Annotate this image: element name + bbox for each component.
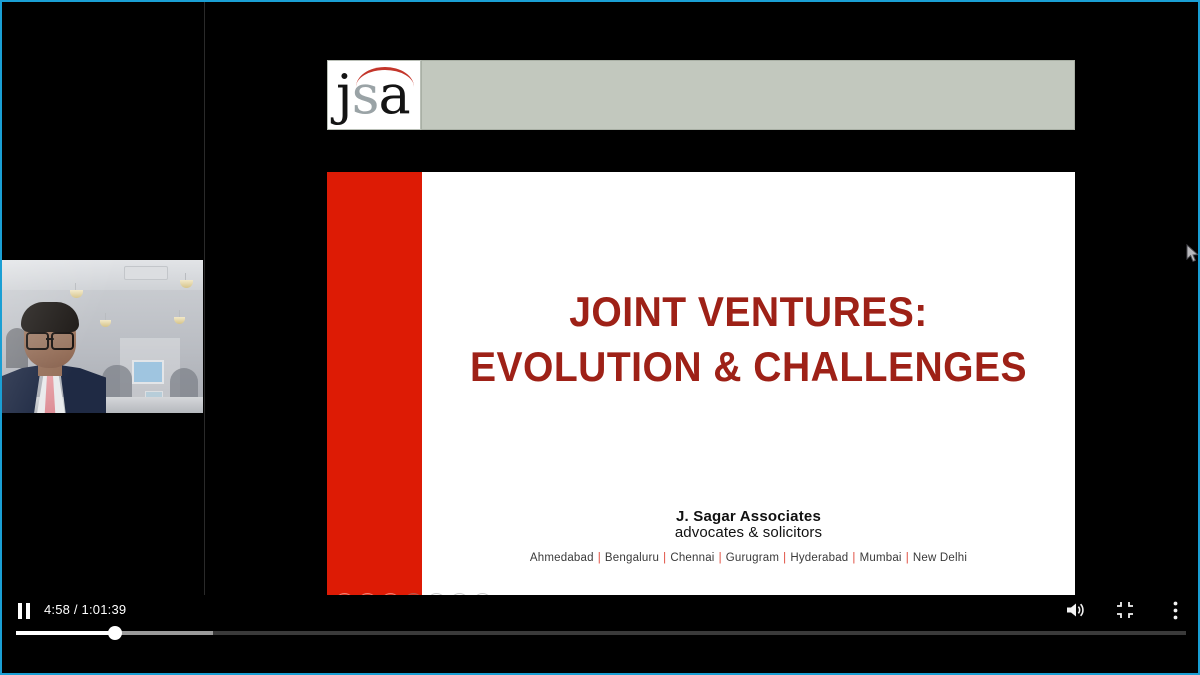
office-city: Gurugram xyxy=(726,552,779,564)
office-city: Mumbai xyxy=(860,552,902,564)
slide-title: JOINT VENTURES: EVOLUTION & CHALLENGES xyxy=(445,284,1052,394)
player-right-controls xyxy=(1064,599,1186,621)
video-player: jsa JOINT VENTURES: EVOLUTION & CHALLENG… xyxy=(0,0,1200,675)
slide-title-line-2: EVOLUTION & CHALLENGES xyxy=(445,339,1052,394)
video-controls: 4:58 / 1:01:39 xyxy=(2,595,1198,673)
firm-block: J. Sagar Associates advocates & solicito… xyxy=(422,508,1075,541)
exit-fullscreen-icon[interactable] xyxy=(1114,599,1136,621)
slide-body[interactable]: JOINT VENTURES: EVOLUTION & CHALLENGES J… xyxy=(327,172,1075,620)
city-separator: | xyxy=(902,552,913,564)
slide-title-line-1: JOINT VENTURES: xyxy=(445,284,1052,339)
volume-icon[interactable] xyxy=(1064,599,1086,621)
pause-button[interactable] xyxy=(16,603,32,619)
firm-name: J. Sagar Associates xyxy=(422,508,1075,525)
glass-reflection xyxy=(2,260,203,413)
office-cities: Ahmedabad|Bengaluru|Chennai|Gurugram|Hyd… xyxy=(422,552,1075,564)
city-separator: | xyxy=(779,552,790,564)
jsa-logo: jsa xyxy=(327,60,421,130)
city-separator: | xyxy=(594,552,605,564)
presenter-webcam[interactable] xyxy=(2,260,203,413)
office-city: Bengaluru xyxy=(605,552,659,564)
office-city: Ahmedabad xyxy=(530,552,594,564)
progress-bar[interactable] xyxy=(16,631,1186,635)
more-options-icon[interactable] xyxy=(1164,599,1186,621)
time-display: 4:58 / 1:01:39 xyxy=(44,602,126,617)
slide-accent-band xyxy=(327,172,422,620)
city-separator: | xyxy=(715,552,726,564)
slide-content: JOINT VENTURES: EVOLUTION & CHALLENGES J… xyxy=(422,172,1075,620)
webcam-pane xyxy=(2,2,205,651)
progress-handle[interactable] xyxy=(108,626,122,640)
office-city: Chennai xyxy=(670,552,714,564)
slide-header-bar xyxy=(421,60,1075,130)
logo-letter-j: j xyxy=(336,63,352,126)
city-separator: | xyxy=(659,552,670,564)
firm-tagline: advocates & solicitors xyxy=(422,524,1075,541)
slide-header: jsa xyxy=(327,60,1075,130)
office-city: New Delhi xyxy=(913,552,967,564)
webcam-background xyxy=(2,260,203,413)
progress-played xyxy=(16,631,115,635)
office-city: Hyderabad xyxy=(790,552,848,564)
mouse-cursor xyxy=(1186,244,1199,263)
city-separator: | xyxy=(848,552,859,564)
slide-stage: jsa JOINT VENTURES: EVOLUTION & CHALLENG… xyxy=(206,2,1198,673)
